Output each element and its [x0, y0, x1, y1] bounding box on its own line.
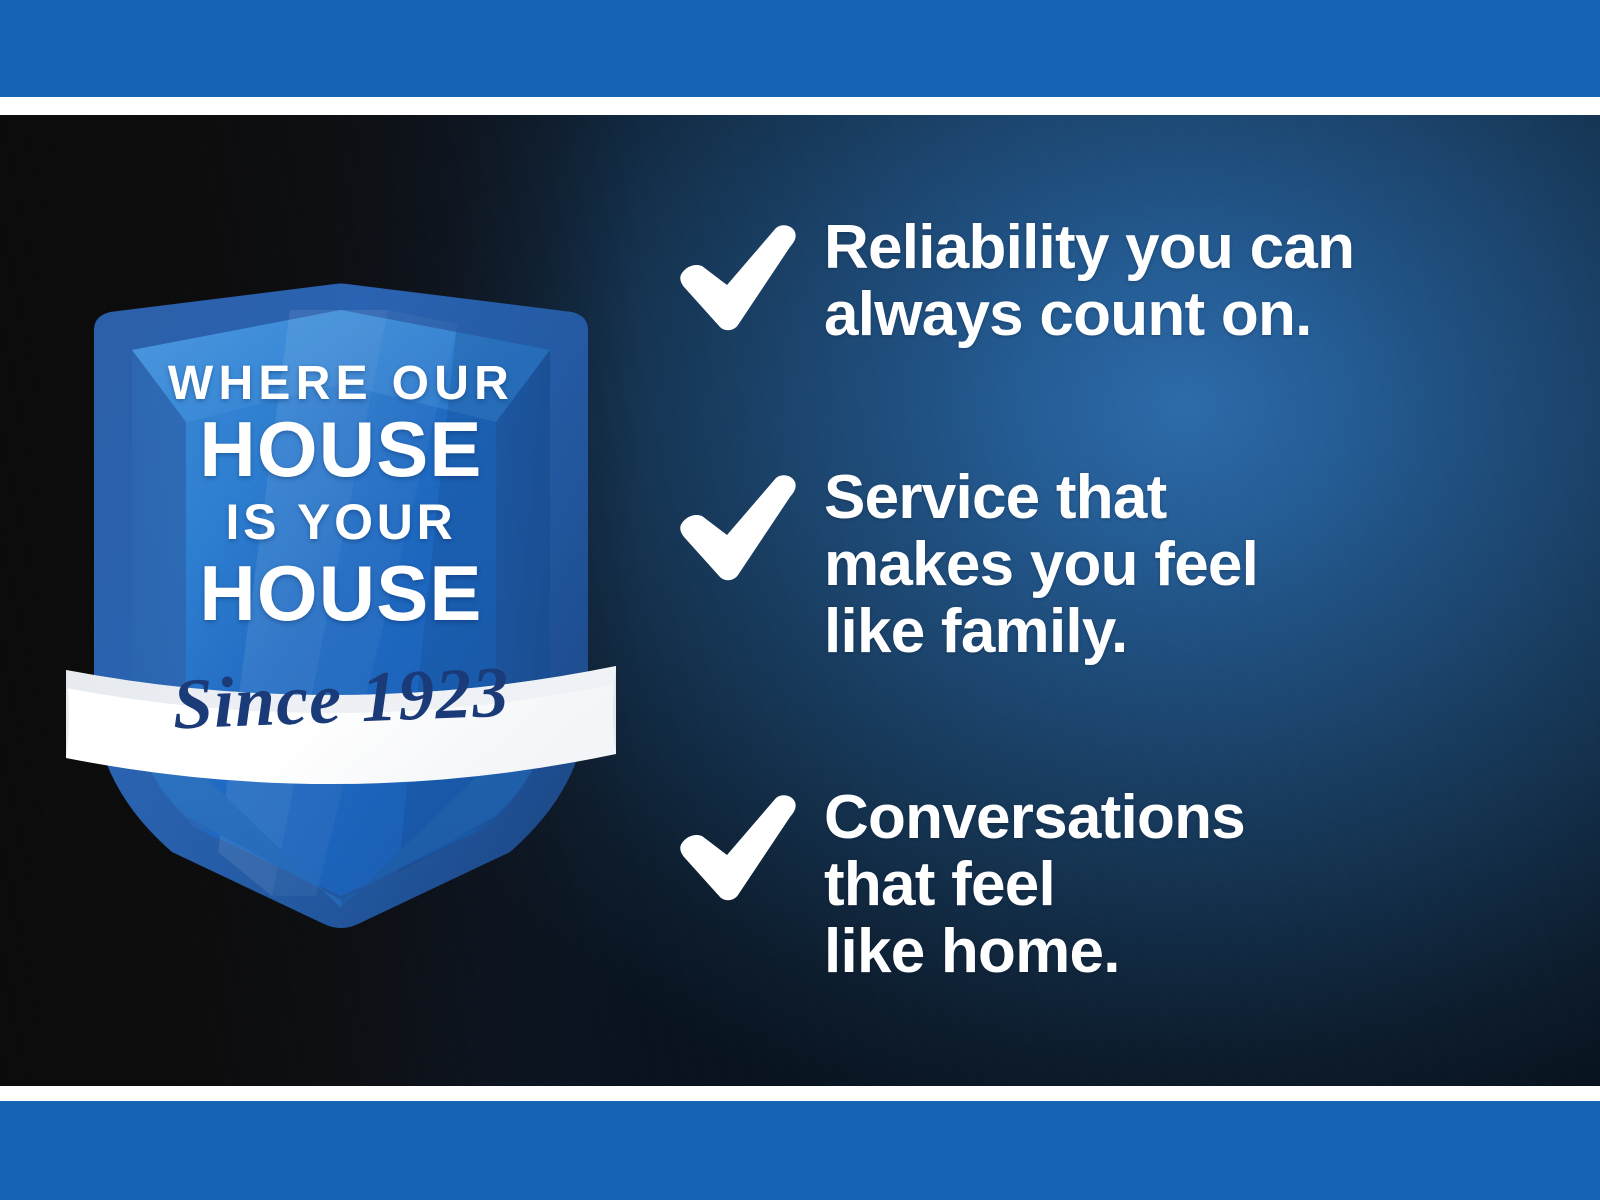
top-white-divider [0, 97, 1600, 115]
bottom-white-divider [0, 1086, 1600, 1101]
benefit-item-3: Conversations that feel like home. [672, 785, 1245, 986]
bottom-brand-bar [0, 1101, 1600, 1200]
benefit-text-3: Conversations that feel like home. [824, 785, 1245, 986]
top-brand-bar [0, 0, 1600, 97]
benefits-list: Reliability you can always count on. Ser… [660, 115, 1560, 1086]
check-icon [672, 221, 798, 337]
benefit-item-2: Service that makes you feel like family. [672, 465, 1258, 666]
check-icon [672, 791, 798, 907]
benefit-text-2: Service that makes you feel like family. [824, 465, 1258, 666]
check-icon [672, 471, 798, 587]
promo-graphic: WHERE OUR HOUSE IS YOUR HOUSE Since 1923… [0, 0, 1600, 1200]
benefit-item-1: Reliability you can always count on. [672, 215, 1354, 349]
shield-emblem: WHERE OUR HOUSE IS YOUR HOUSE Since 1923 [58, 272, 624, 942]
benefit-text-1: Reliability you can always count on. [824, 215, 1354, 349]
